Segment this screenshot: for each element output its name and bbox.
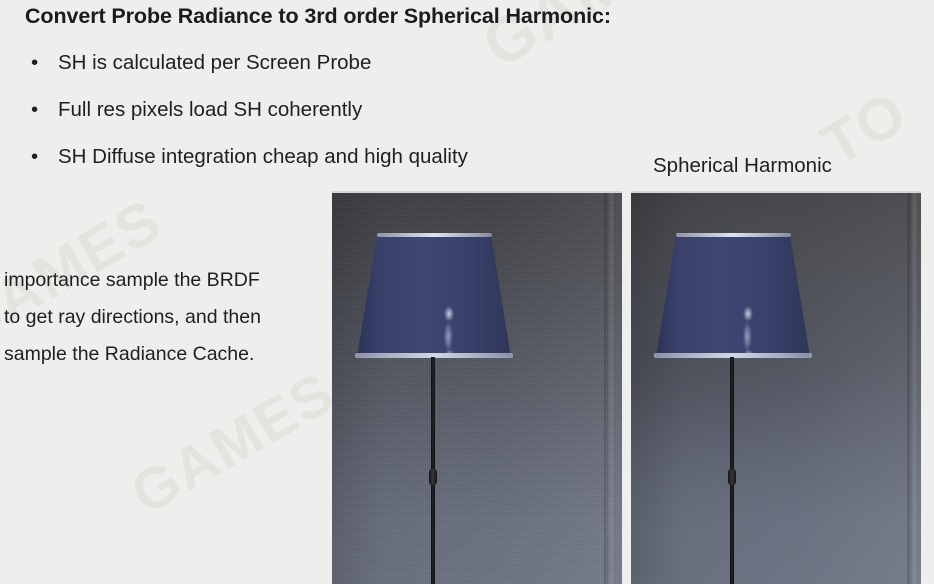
bullet-point-icon: • (31, 48, 41, 78)
slide-canvas: GAMES GAMES GAMES TO GAMES Convert Probe… (0, 0, 934, 584)
lamp-pole-joint (429, 469, 437, 485)
list-item: • SH Diffuse integration cheap and high … (0, 142, 620, 189)
side-note-line: to get ray directions, and then (4, 299, 329, 336)
spherical-harmonic-caption: Spherical Harmonic (653, 154, 832, 178)
lamp-shade-highlight (442, 303, 456, 357)
floor-lamp (332, 193, 622, 584)
floor-lamp (631, 193, 921, 584)
side-note-line: importance sample the BRDF (4, 262, 329, 299)
bullet-list: • SH is calculated per Screen Probe • Fu… (0, 48, 620, 189)
list-item: • SH is calculated per Screen Probe (0, 48, 620, 95)
bullet-point-icon: • (31, 142, 41, 172)
spherical-harmonic-render-image (631, 191, 921, 584)
lamp-shade-top-rim (676, 233, 791, 237)
lamp-shade-highlight (741, 303, 755, 357)
list-item-label: SH Diffuse integration cheap and high qu… (58, 145, 468, 168)
lamp-pole-joint (728, 469, 736, 485)
page-title: Convert Probe Radiance to 3rd order Sphe… (25, 4, 611, 29)
list-item-label: SH is calculated per Screen Probe (58, 51, 371, 74)
list-item: • Full res pixels load SH coherently (0, 95, 620, 142)
bullet-point-icon: • (31, 95, 41, 125)
side-note-text: importance sample the BRDF to get ray di… (4, 262, 329, 373)
image-comparison-pair (332, 191, 921, 584)
lamp-shade-top-rim (377, 233, 492, 237)
watermark-text: GAMES (120, 359, 346, 528)
lamp-shade (357, 235, 511, 357)
reference-photo-image (332, 191, 622, 584)
list-item-label: Full res pixels load SH coherently (58, 98, 362, 121)
lamp-shade (656, 235, 810, 357)
side-note-line: sample the Radiance Cache. (4, 336, 329, 373)
